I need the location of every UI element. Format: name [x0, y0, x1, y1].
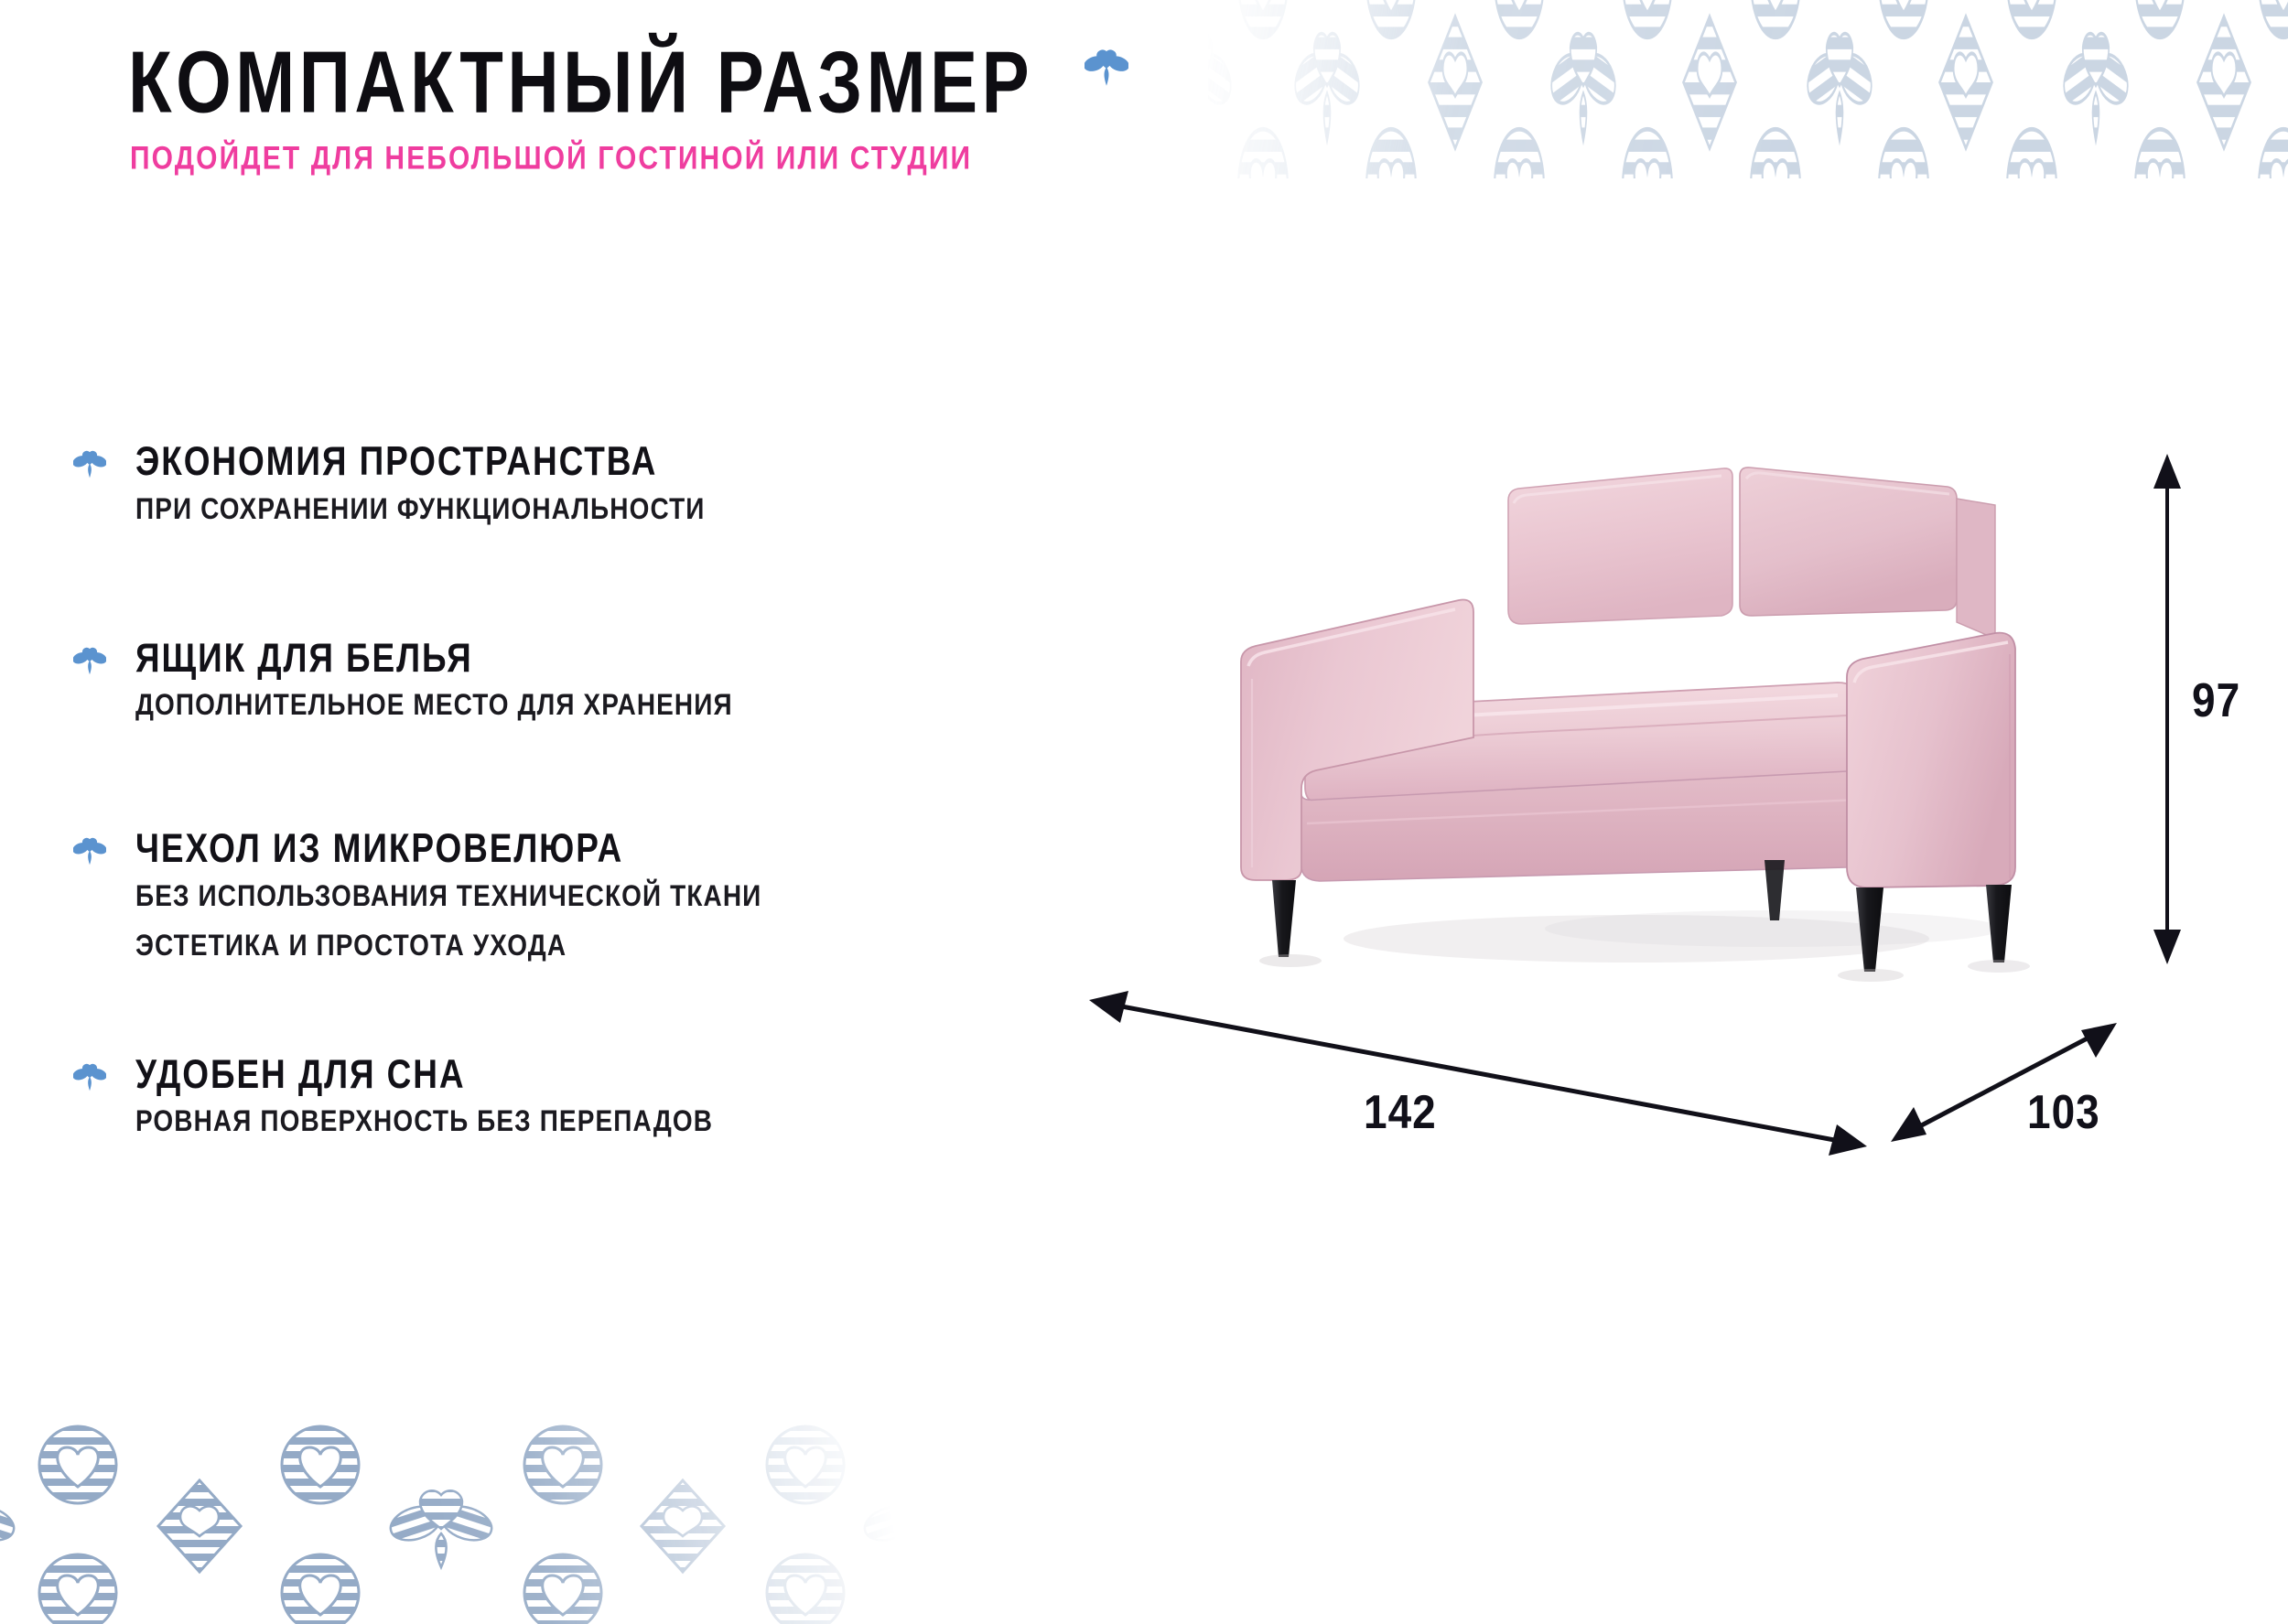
clover-icon [73, 834, 106, 866]
infographic-canvas: КОМПАКТНЫЙ РАЗМЕР ПОДОЙДЕТ ДЛЯ НЕБОЛЬШОЙ… [0, 0, 2288, 1624]
page-title: КОМПАКТНЫЙ РАЗМЕР [128, 38, 1033, 125]
feature-item-space-saving: ЭКОНОМИЯ ПРОСТРАНСТВА ПРИ СОХРАНЕНИИ ФУН… [73, 441, 1043, 524]
feature-description: БЕЗ ИСПОЛЬЗОВАНИЯ ТЕХНИЧЕСКОЙ ТКАНИ ЭСТЕ… [135, 875, 1043, 966]
feature-item-sleep-comfort: УДОБЕН ДЛЯ СНА РОВНАЯ ПОВЕРХНОСТЬ БЕЗ ПЕ… [73, 1054, 1043, 1137]
clover-icon [73, 1059, 106, 1092]
footer: ЛЕГКОЕ ПРЕВРАЩЕНИЕ ДИВАНА В КРОВАТЬ МЕХА… [0, 1395, 2288, 1624]
feature-description: РОВНАЯ ПОВЕРХНОСТЬ БЕЗ ПЕРЕПАДОВ [135, 1100, 1043, 1143]
feature-item-storage-box: ЯЩИК ДЛЯ БЕЛЬЯ ДОПОЛНИТЕЛЬНОЕ МЕСТО ДЛЯ … [73, 638, 1043, 721]
feature-description-line: ПРИ СОХРАНЕНИИ ФУНКЦИОНАЛЬНОСТИ [135, 488, 1043, 531]
feature-description: ДОПОЛНИТЕЛЬНОЕ МЕСТО ДЛЯ ХРАНЕНИЯ [135, 683, 1043, 726]
feature-description-line: ДОПОЛНИТЕЛЬНОЕ МЕСТО ДЛЯ ХРАНЕНИЯ [135, 683, 1043, 726]
page-subtitle: ПОДОЙДЕТ ДЛЯ НЕБОЛЬШОЙ ГОСТИНОЙ ИЛИ СТУД… [130, 141, 972, 177]
feature-heading: УДОБЕН ДЛЯ СНА [135, 1054, 1043, 1097]
feature-heading: ЧЕХОЛ ИЗ МИКРОВЕЛЮРА [135, 828, 1043, 871]
feature-description-line: РОВНАЯ ПОВЕРХНОСТЬ БЕЗ ПЕРЕПАДОВ [135, 1100, 1043, 1143]
feature-heading: ЭКОНОМИЯ ПРОСТРАНСТВА [135, 441, 1043, 484]
clover-icon [73, 643, 106, 676]
feature-item-microvelour-cover: ЧЕХОЛ ИЗ МИКРОВЕЛЮРА БЕЗ ИСПОЛЬЗОВАНИЯ Т… [73, 828, 1043, 952]
dimension-arrow-width [1089, 991, 1867, 1156]
clover-icon [1085, 44, 1128, 88]
feature-description: ПРИ СОХРАНЕНИИ ФУНКЦИОНАЛЬНОСТИ [135, 488, 1043, 531]
feature-heading: ЯЩИК ДЛЯ БЕЛЬЯ [135, 638, 1043, 681]
feature-description-line: ЭСТЕТИКА И ПРОСТОТА УХОДА [135, 924, 1043, 967]
feature-list: ЭКОНОМИЯ ПРОСТРАНСТВА ПРИ СОХРАНЕНИИ ФУН… [73, 441, 1043, 1136]
dimension-label-height: 97 [2192, 672, 2240, 727]
product-image-sofa [1206, 430, 2085, 997]
feature-description-line: БЕЗ ИСПОЛЬЗОВАНИЯ ТЕХНИЧЕСКОЙ ТКАНИ [135, 875, 1043, 918]
dimension-label-width: 142 [1364, 1084, 1437, 1139]
clover-icon [73, 446, 106, 479]
header: КОМПАКТНЫЙ РАЗМЕР ПОДОЙДЕТ ДЛЯ НЕБОЛЬШОЙ… [128, 38, 1033, 110]
decor-pattern-top [1208, 0, 2288, 178]
dimension-arrow-height [2153, 454, 2181, 964]
dimension-label-depth: 103 [2027, 1084, 2100, 1139]
